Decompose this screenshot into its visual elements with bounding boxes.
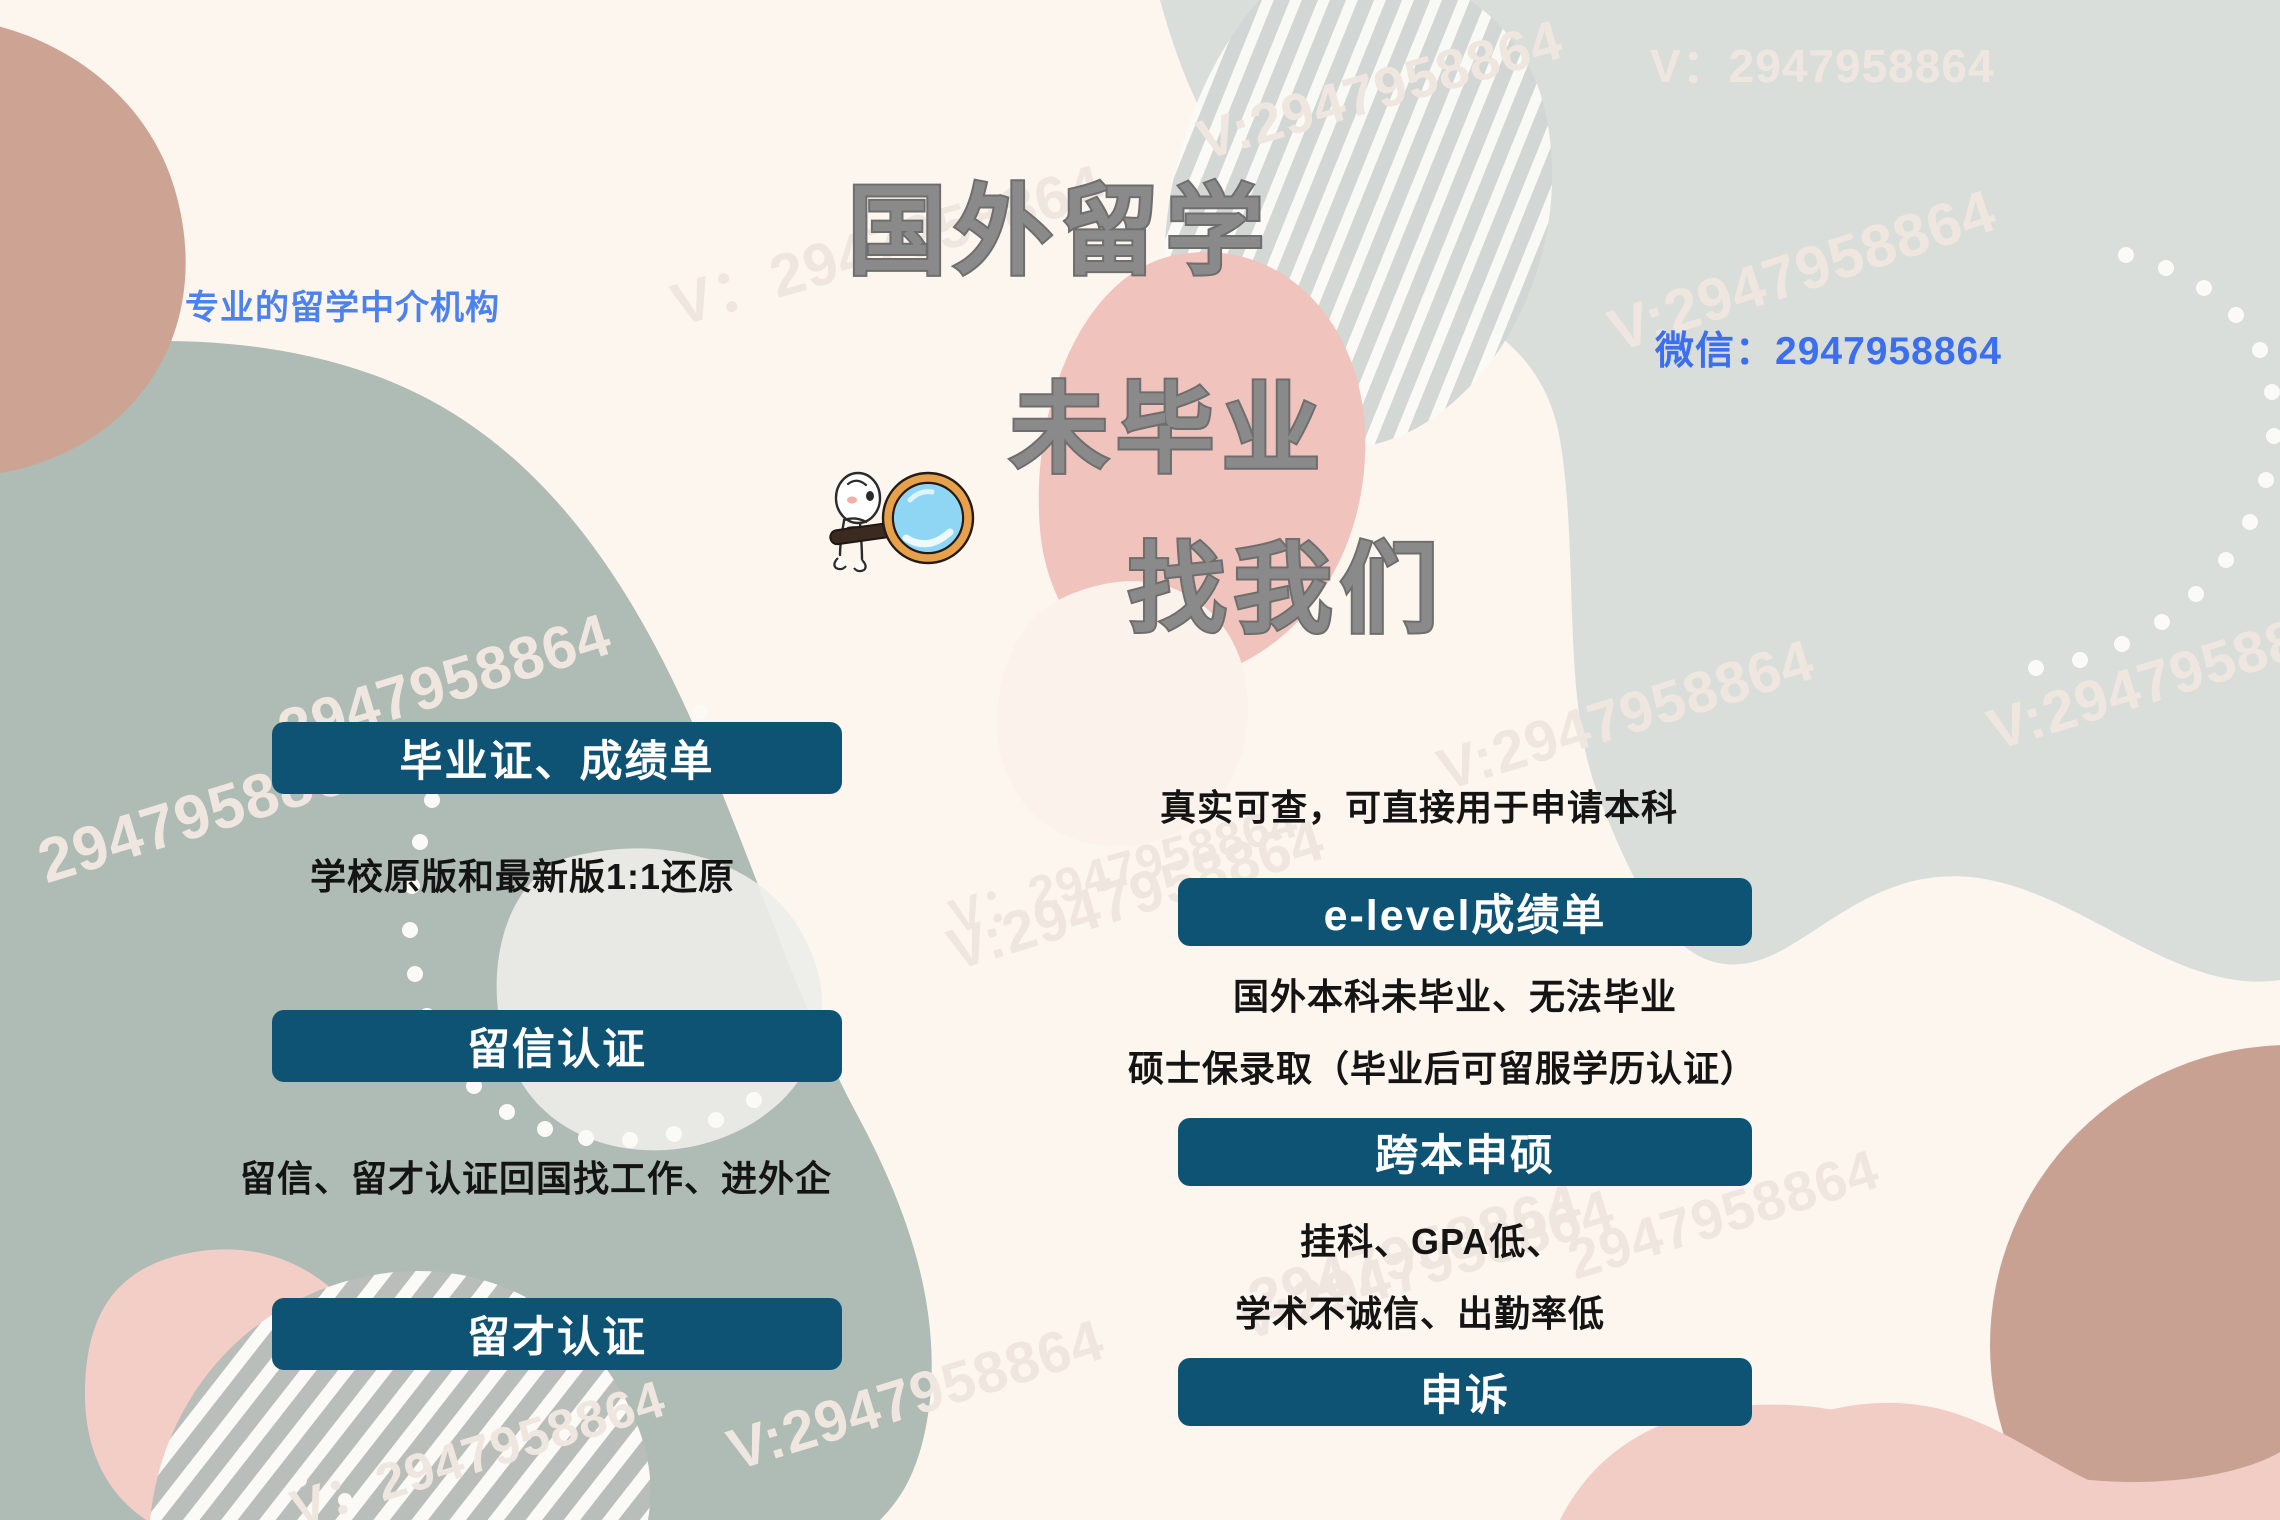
subtitle-undergrad-line-2: 硕士保录取（毕业后可留服学历认证）	[1128, 1040, 1757, 1092]
badge-appeal[interactable]: 申诉	[1178, 1358, 1752, 1426]
badge-liuxin-certification[interactable]: 留信认证	[272, 1010, 842, 1082]
poster-canvas: V：2947958864 V:2947958864 V：2947958864 V…	[0, 0, 2280, 1520]
badge-liucai-certification[interactable]: 留才认证	[272, 1298, 842, 1370]
headline-line-1: 国外留学	[848, 152, 1272, 294]
content-layer: 专业的留学中介机构 微信：2947958864 国外留学 未毕业 找我们	[0, 0, 2280, 1520]
subtitle-gpa-line-1: 挂科、GPA低、	[1300, 1213, 1563, 1265]
badge-elevel-transcript[interactable]: e-level成绩单	[1178, 878, 1752, 946]
headline-block: 国外留学 未毕业 找我们	[0, 0, 2280, 660]
headline-line-2: 未毕业	[1010, 350, 1328, 492]
subtitle-verifiable: 真实可查，可直接用于申请本科	[1160, 779, 1678, 831]
subtitle-liuxin-certification: 留信、留才认证回国找工作、进外企	[240, 1150, 832, 1202]
subtitle-gpa-line-2: 学术不诚信、出勤率低	[1235, 1285, 1605, 1337]
magnifier-character-icon	[818, 466, 978, 596]
badge-cross-major-master[interactable]: 跨本申硕	[1178, 1118, 1752, 1186]
headline-line-3: 找我们	[1128, 510, 1446, 652]
subtitle-diploma-transcript: 学校原版和最新版1:1还原	[310, 848, 735, 900]
badge-diploma-transcript[interactable]: 毕业证、成绩单	[272, 722, 842, 794]
subtitle-undergrad-line-1: 国外本科未毕业、无法毕业	[1233, 968, 1677, 1020]
